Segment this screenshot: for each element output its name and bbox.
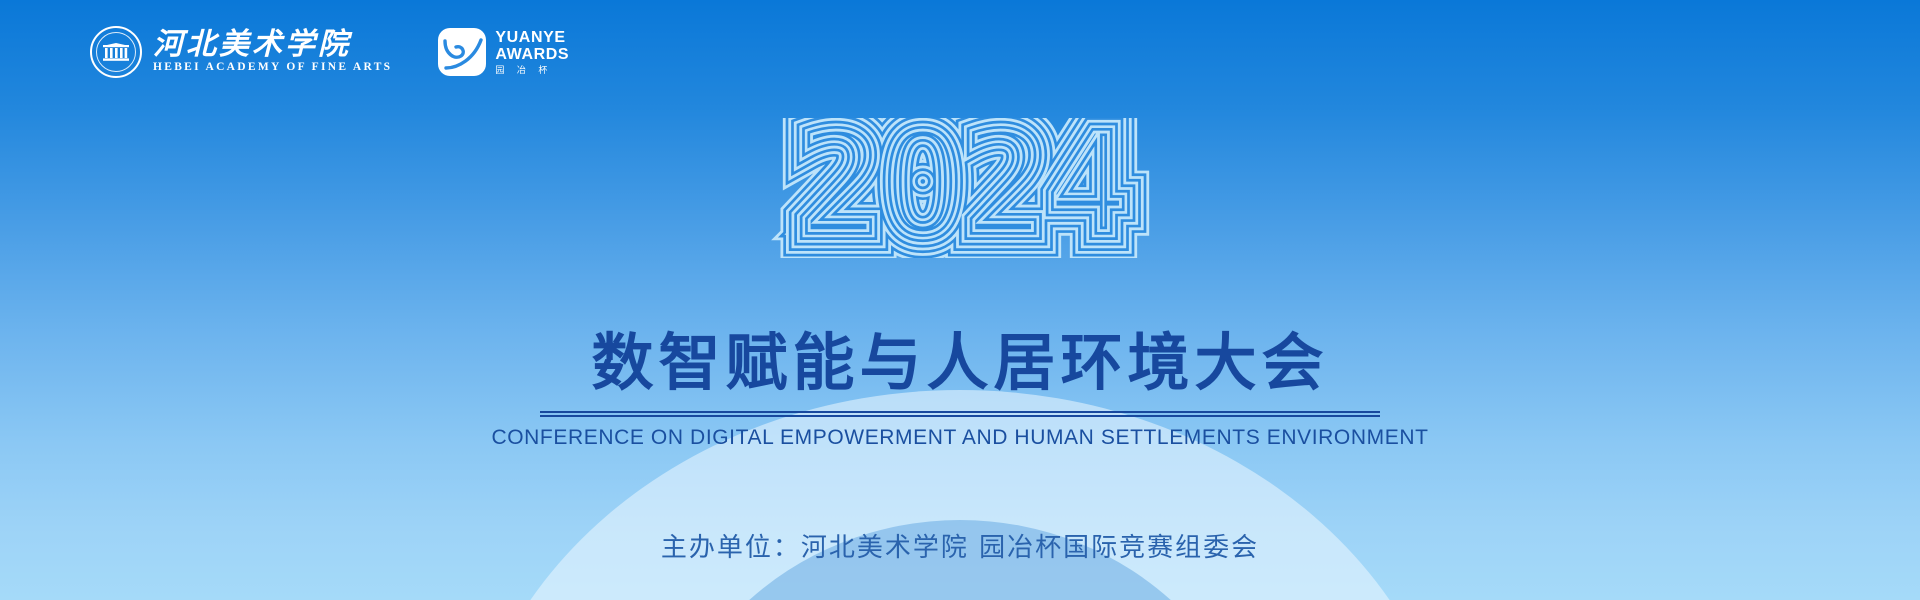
yuanye-swoosh-icon bbox=[438, 28, 486, 76]
year-2024-striped-numerals: 202420242024202420242024202420242024 bbox=[760, 118, 1160, 258]
organiser-line: 主办单位：河北美术学院 园冶杯国际竞赛组委会 bbox=[0, 527, 1920, 564]
gate-building-glyph bbox=[103, 43, 129, 63]
yuanye-awards-logo: YUANYE AWARDS 园 冶 杯 bbox=[438, 28, 569, 76]
yuanye-logo-name-cn: 园 冶 杯 bbox=[495, 66, 569, 75]
title-block: 数智赋能与人居环境大会 CONFERENCE ON DIGITAL EMPOWE… bbox=[0, 330, 1920, 450]
hebei-logo-name-cn: 河北美术学院 bbox=[153, 30, 392, 60]
sub-title-english: CONFERENCE ON DIGITAL EMPOWERMENT AND HU… bbox=[0, 426, 1920, 450]
main-title: 数智赋能与人居环境大会 bbox=[0, 330, 1920, 397]
conference-banner: 河北美术学院 HEBEI ACADEMY OF FINE ARTS YUANYE… bbox=[0, 0, 1920, 600]
hebei-logo-name-en: HEBEI ACADEMY OF FINE ARTS bbox=[153, 62, 392, 74]
hebei-academy-logo: 河北美术学院 HEBEI ACADEMY OF FINE ARTS bbox=[90, 26, 392, 78]
year-stripe-layers: 202420242024202420242024202420242024 bbox=[795, 118, 1126, 258]
yuanye-logo-line1: YUANYE bbox=[495, 30, 569, 46]
svg-text:2024: 2024 bbox=[795, 118, 1126, 258]
yuanye-swoosh-glyph bbox=[438, 28, 486, 76]
academy-seal-icon bbox=[90, 26, 142, 78]
logo-bar: 河北美术学院 HEBEI ACADEMY OF FINE ARTS YUANYE… bbox=[90, 26, 569, 78]
title-divider-rule bbox=[540, 411, 1380, 416]
yuanye-logo-line2: AWARDS bbox=[495, 47, 569, 63]
year-graphic: 202420242024202420242024202420242024 bbox=[0, 118, 1920, 263]
